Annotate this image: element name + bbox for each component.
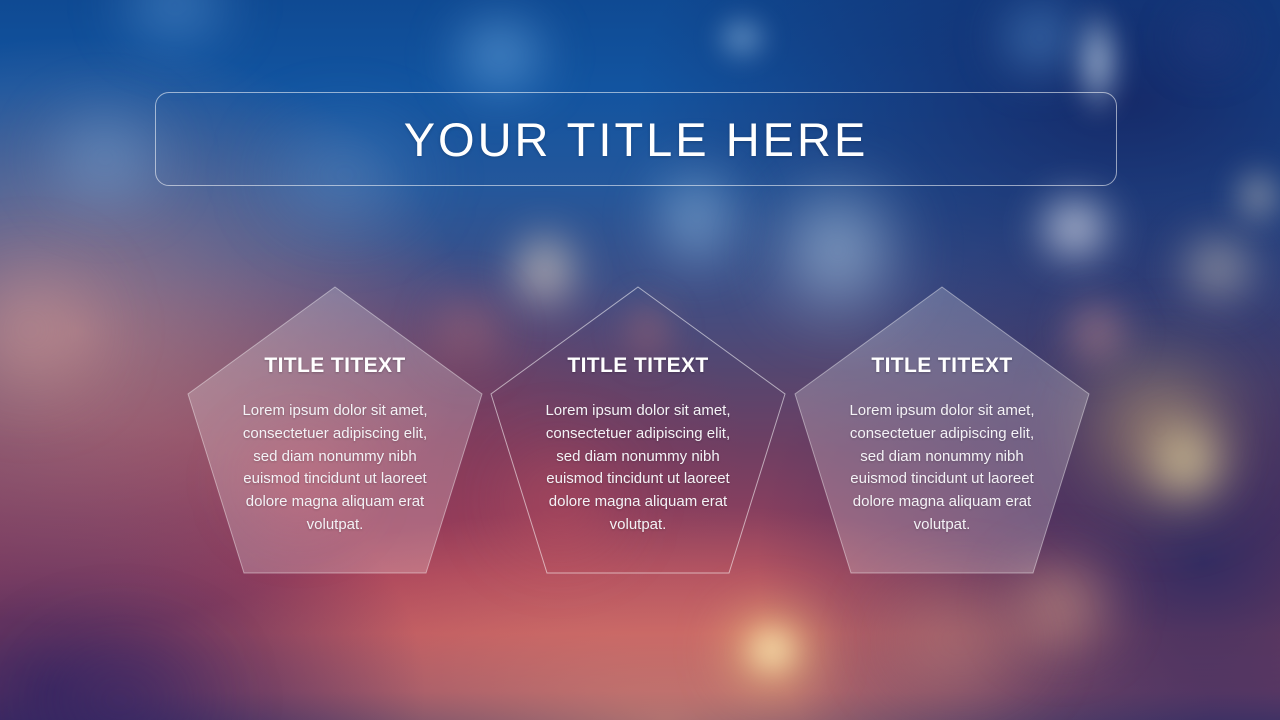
pentagon-card-3-title: TITLE TITEXT xyxy=(871,355,1012,376)
pentagon-card-row: TITLE TITEXT Lorem ipsum dolor sit amet,… xyxy=(0,284,1280,576)
pentagon-card-2-body: Lorem ipsum dolor sit amet, consectetuer… xyxy=(538,400,738,537)
pentagon-card-1-title: TITLE TITEXT xyxy=(264,355,405,376)
slide-title-box[interactable]: YOUR TITLE HERE xyxy=(155,92,1117,186)
pentagon-card-2-content: TITLE TITEXT Lorem ipsum dolor sit amet,… xyxy=(488,284,788,576)
pentagon-card-1[interactable]: TITLE TITEXT Lorem ipsum dolor sit amet,… xyxy=(185,284,485,576)
pentagon-card-3-content: TITLE TITEXT Lorem ipsum dolor sit amet,… xyxy=(792,284,1092,576)
slide-title: YOUR TITLE HERE xyxy=(404,116,869,163)
pentagon-card-3-body: Lorem ipsum dolor sit amet, consectetuer… xyxy=(842,400,1042,537)
pentagon-card-1-body: Lorem ipsum dolor sit amet, consectetuer… xyxy=(235,400,435,537)
presentation-slide: YOUR TITLE HERE TITLE TITEXT Lorem ipsum… xyxy=(0,0,1280,720)
pentagon-card-3[interactable]: TITLE TITEXT Lorem ipsum dolor sit amet,… xyxy=(792,284,1092,576)
pentagon-card-2[interactable]: TITLE TITEXT Lorem ipsum dolor sit amet,… xyxy=(488,284,788,576)
pentagon-card-1-content: TITLE TITEXT Lorem ipsum dolor sit amet,… xyxy=(185,284,485,576)
pentagon-card-2-title: TITLE TITEXT xyxy=(567,355,708,376)
